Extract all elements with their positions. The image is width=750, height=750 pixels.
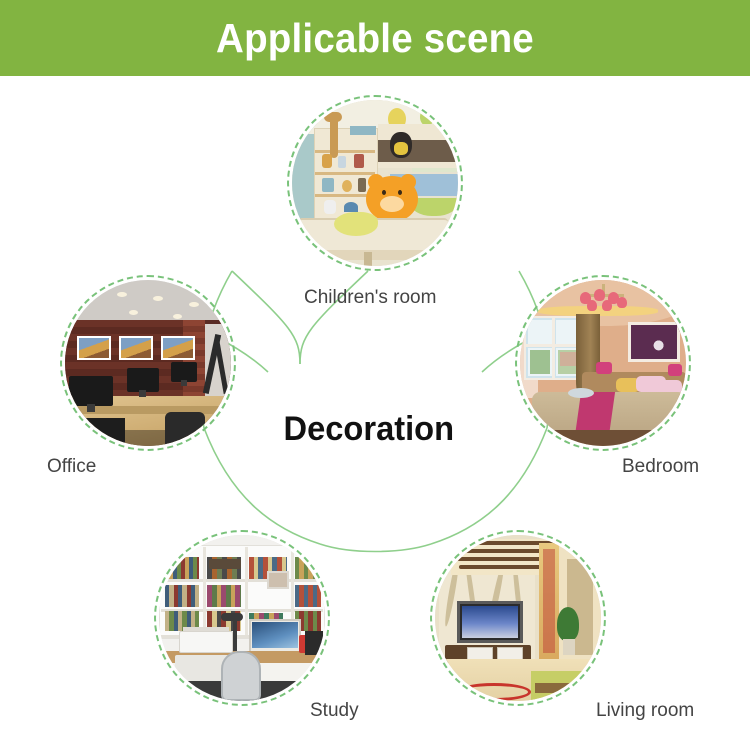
children-room-photo (292, 100, 458, 266)
bedroom-photo (520, 280, 686, 446)
node-bedroom[interactable] (515, 275, 691, 451)
center-label: Decoration (284, 410, 454, 449)
page-title: Applicable scene (23, 0, 728, 76)
office-photo (65, 280, 231, 446)
node-children-room[interactable] (287, 95, 463, 271)
label-office: Office (47, 456, 96, 478)
children-room-scene (292, 100, 458, 266)
office-scene (65, 280, 231, 446)
applicable-scene-infographic: Applicable scene (0, 0, 750, 750)
study-scene (159, 535, 325, 701)
node-office[interactable] (60, 275, 236, 451)
label-study: Study (310, 700, 359, 722)
study-photo (159, 535, 325, 701)
bedroom-scene (520, 280, 686, 446)
label-children-room: Children's room (304, 287, 436, 309)
living-room-scene (435, 535, 601, 701)
node-living-room[interactable] (430, 530, 606, 706)
label-bedroom: Bedroom (622, 456, 699, 478)
living-room-photo (435, 535, 601, 701)
diagram-stage: Children's room (0, 76, 750, 750)
label-living-room: Living room (596, 700, 694, 722)
header-banner: Applicable scene (0, 0, 750, 76)
node-study[interactable] (154, 530, 330, 706)
